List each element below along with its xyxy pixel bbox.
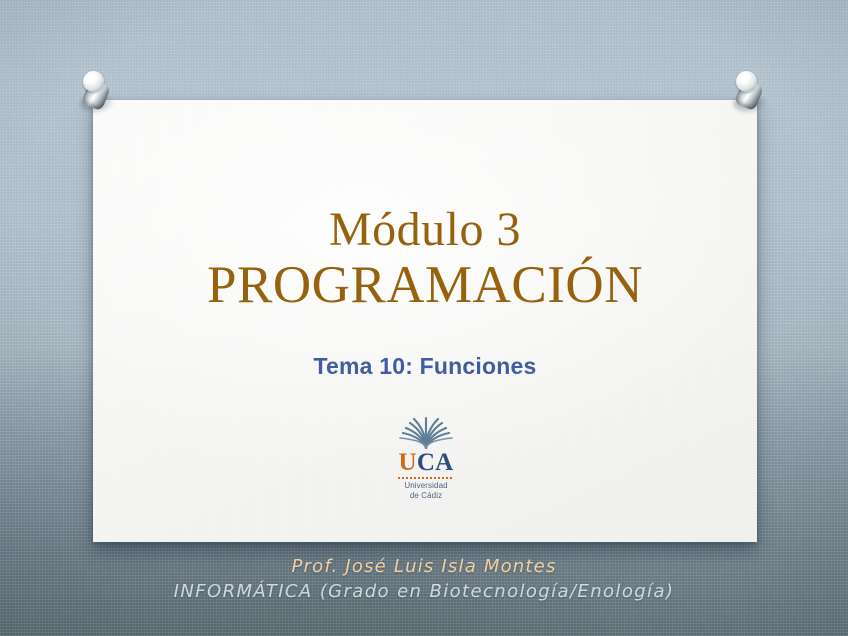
footer-course: INFORMÁTICA (Grado en Biotecnología/Enol… xyxy=(0,581,848,602)
uca-name-line-1: Universidad xyxy=(391,481,461,491)
uca-acronym: UCA xyxy=(391,450,461,475)
slide-title-block: Módulo 3 PROGRAMACIÓN xyxy=(93,205,757,315)
pushpin-gloss xyxy=(87,74,96,81)
pushpin-top-left xyxy=(74,68,120,120)
uca-acronym-u: U xyxy=(398,449,416,476)
footer-author: Prof. José Luis Isla Montes xyxy=(0,556,848,577)
presentation-slide: Módulo 3 PROGRAMACIÓN Tema 10: Funciones xyxy=(0,0,848,636)
slide-subtitle: Tema 10: Funciones xyxy=(93,353,757,380)
slide-title-line-2: PROGRAMACIÓN xyxy=(93,257,757,314)
uca-logo: UCA Universidad de Cádiz xyxy=(391,411,461,495)
pushpin-gloss xyxy=(740,74,749,81)
uca-sheaf-emblem-icon xyxy=(397,411,455,449)
uca-acronym-ca: CA xyxy=(417,449,454,476)
pushpin-top-right xyxy=(727,68,773,120)
slide-footer: Prof. José Luis Isla Montes INFORMÁTICA … xyxy=(0,556,848,602)
slide-title-line-1: Módulo 3 xyxy=(93,205,757,255)
uca-name-line-2: de Cádiz xyxy=(391,491,461,501)
uca-divider-rule xyxy=(398,477,454,479)
